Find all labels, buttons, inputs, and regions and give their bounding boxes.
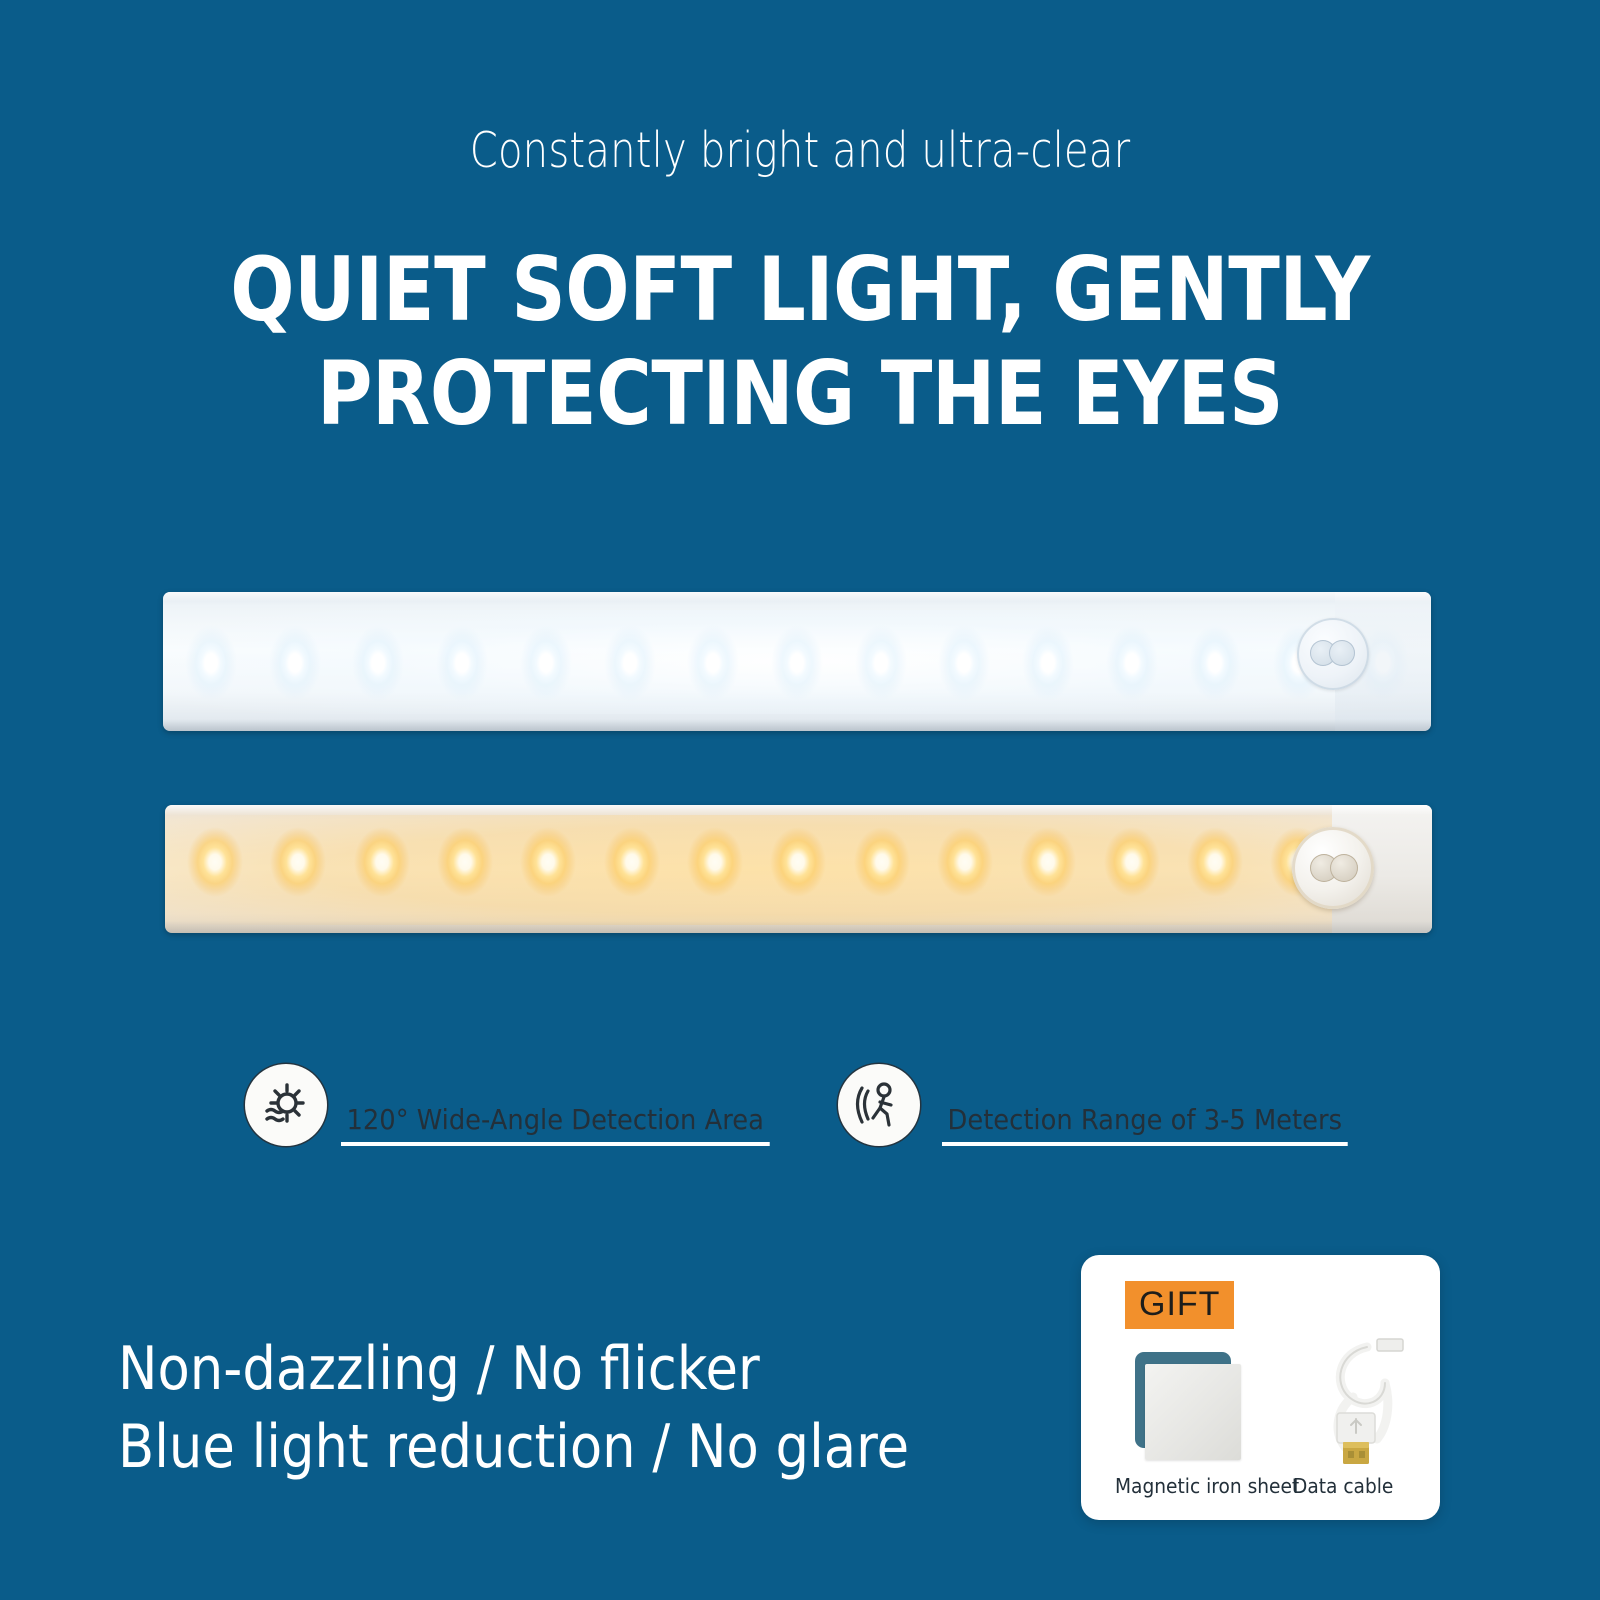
gift-card: GIFT	[1081, 1255, 1440, 1520]
led-glow	[1189, 625, 1241, 701]
feature-detection-range: Detection Range of 3-5 Meters	[838, 1064, 1383, 1146]
headline-line-2: PROTECTING THE EYES	[112, 342, 1488, 446]
led-glow	[771, 625, 823, 701]
led-glow	[855, 625, 907, 701]
magnetic-iron-sheet-icon	[1135, 1352, 1241, 1458]
bar-bottom-edge	[165, 921, 1432, 933]
led-glow	[938, 625, 990, 701]
sensor-lens	[1330, 854, 1358, 882]
warm-yellow-led-bar	[165, 805, 1432, 933]
subtitle: Constantly bright and ultra-clear	[144, 122, 1456, 179]
led-glow	[604, 625, 656, 701]
gift-item-caption: Data cable	[1293, 1474, 1393, 1498]
sensor-lens-pair	[1310, 640, 1356, 668]
walking-person-motion-icon	[838, 1064, 920, 1146]
product-marketing-banner: Constantly bright and ultra-clear QUIET …	[0, 0, 1600, 1600]
led-glow	[604, 827, 660, 897]
gift-badge: GIFT	[1125, 1281, 1234, 1329]
page-title: QUIET SOFT LIGHT, GENTLY PROTECTING THE …	[112, 238, 1488, 446]
feature-wide-angle-detection: 120° Wide-Angle Detection Area	[245, 1064, 807, 1146]
cool-white-led-bar	[163, 592, 1431, 731]
led-glow	[854, 827, 910, 897]
product-claims: Non-dazzling / No flicker Blue light red…	[118, 1330, 909, 1486]
led-glow	[354, 827, 410, 897]
feature-label: Detection Range of 3-5 Meters	[942, 1103, 1348, 1146]
led-glow	[436, 625, 488, 701]
bar-bottom-edge	[163, 719, 1431, 731]
led-glow	[437, 827, 493, 897]
led-glow	[270, 827, 326, 897]
claim-line-2: Blue light reduction / No glare	[118, 1408, 909, 1486]
gift-item-caption: Magnetic iron sheet	[1115, 1474, 1299, 1498]
motion-sensor-dome-icon	[1292, 827, 1374, 909]
bar-top-edge	[163, 592, 1431, 602]
claim-line-1: Non-dazzling / No flicker	[118, 1330, 909, 1408]
cool-led-row	[163, 625, 1431, 701]
led-glow	[1022, 625, 1074, 701]
warm-led-row	[165, 827, 1432, 897]
led-glow	[1187, 827, 1243, 897]
led-glow	[352, 625, 404, 701]
feature-label: 120° Wide-Angle Detection Area	[341, 1103, 769, 1146]
bar-top-edge	[165, 805, 1432, 815]
led-glow	[520, 827, 576, 897]
usb-data-cable-icon	[1293, 1335, 1413, 1465]
sensor-lens-pair	[1310, 854, 1356, 882]
led-glow	[520, 625, 572, 701]
led-glow	[687, 625, 739, 701]
iron-sheet-face	[1145, 1364, 1241, 1460]
headline-line-1: QUIET SOFT LIGHT, GENTLY	[230, 238, 1370, 341]
led-glow	[1020, 827, 1076, 897]
led-glow	[1106, 625, 1158, 701]
led-glow	[687, 827, 743, 897]
sensor-lens	[1329, 640, 1355, 666]
led-glow	[185, 625, 237, 701]
led-glow	[187, 827, 243, 897]
led-glow	[1104, 827, 1160, 897]
led-glow	[770, 827, 826, 897]
sun-sensor-icon	[245, 1064, 327, 1146]
motion-sensor-dome-icon	[1297, 618, 1369, 690]
led-glow	[269, 625, 321, 701]
led-glow	[937, 827, 993, 897]
